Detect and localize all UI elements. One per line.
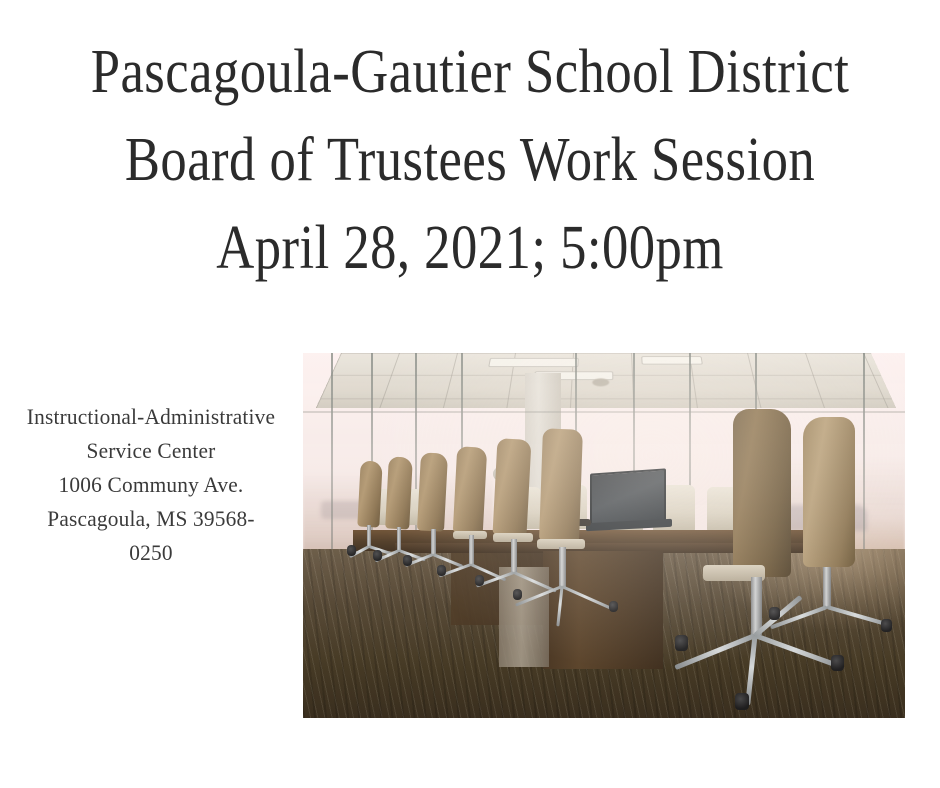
chair-post xyxy=(511,539,517,573)
chair-caster xyxy=(347,545,356,556)
chair-post xyxy=(397,527,401,551)
chair-post xyxy=(823,567,831,607)
venue-name-line-1: Instructional-Administrative xyxy=(10,400,291,434)
chair-caster xyxy=(609,601,618,612)
photo-scene xyxy=(303,353,905,718)
chair-caster xyxy=(437,565,446,576)
conference-chair-back xyxy=(417,452,448,531)
chair-post xyxy=(431,529,436,555)
ceiling-light-fixture xyxy=(488,358,579,367)
foreground-chair-caster xyxy=(675,635,688,651)
chair-post xyxy=(469,535,474,565)
conference-chair-back xyxy=(453,446,487,533)
venue-address-block: Instructional-Administrative Service Cen… xyxy=(6,400,296,570)
chair-caster xyxy=(403,555,412,566)
conference-chair-back xyxy=(357,460,382,527)
chair-caster xyxy=(513,589,522,600)
venue-street: 1006 Communy Ave. xyxy=(10,468,291,502)
chair-caster xyxy=(881,619,892,632)
foreground-chair-back-right xyxy=(803,417,855,567)
conference-chair-back xyxy=(493,438,532,536)
foreground-chair-back xyxy=(733,409,791,577)
conference-chair-back xyxy=(385,456,413,529)
venue-name-line-2: Service Center xyxy=(10,434,291,468)
announcement-headline: Pascagoula-Gautier School District Board… xyxy=(0,28,940,292)
chair-caster xyxy=(475,575,484,586)
foreground-chair-caster xyxy=(735,693,749,710)
chair-caster xyxy=(373,550,382,561)
headline-line-event: Board of Trustees Work Session xyxy=(28,111,912,210)
window-mullion xyxy=(331,353,333,549)
headline-line-organization: Pascagoula-Gautier School District xyxy=(28,23,912,122)
window-mullion xyxy=(689,353,691,503)
headline-line-datetime: April 28, 2021; 5:00pm xyxy=(28,199,912,298)
conference-chair-back xyxy=(539,428,583,541)
ceiling-vent xyxy=(592,378,609,386)
chair-post xyxy=(367,525,371,547)
ceiling-light-fixture xyxy=(641,356,703,364)
table-base-metal-panel xyxy=(499,567,549,667)
venue-city-state-zip-line-1: Pascagoula, MS 39568- xyxy=(10,502,291,536)
window-head-rail xyxy=(303,411,905,413)
foreground-chair-caster xyxy=(831,655,844,671)
chair-post xyxy=(559,547,566,587)
ceiling xyxy=(316,353,896,408)
chair-caster xyxy=(769,607,780,620)
venue-city-state-zip-line-2: 0250 xyxy=(10,536,291,570)
conference-room-photo xyxy=(303,353,905,718)
